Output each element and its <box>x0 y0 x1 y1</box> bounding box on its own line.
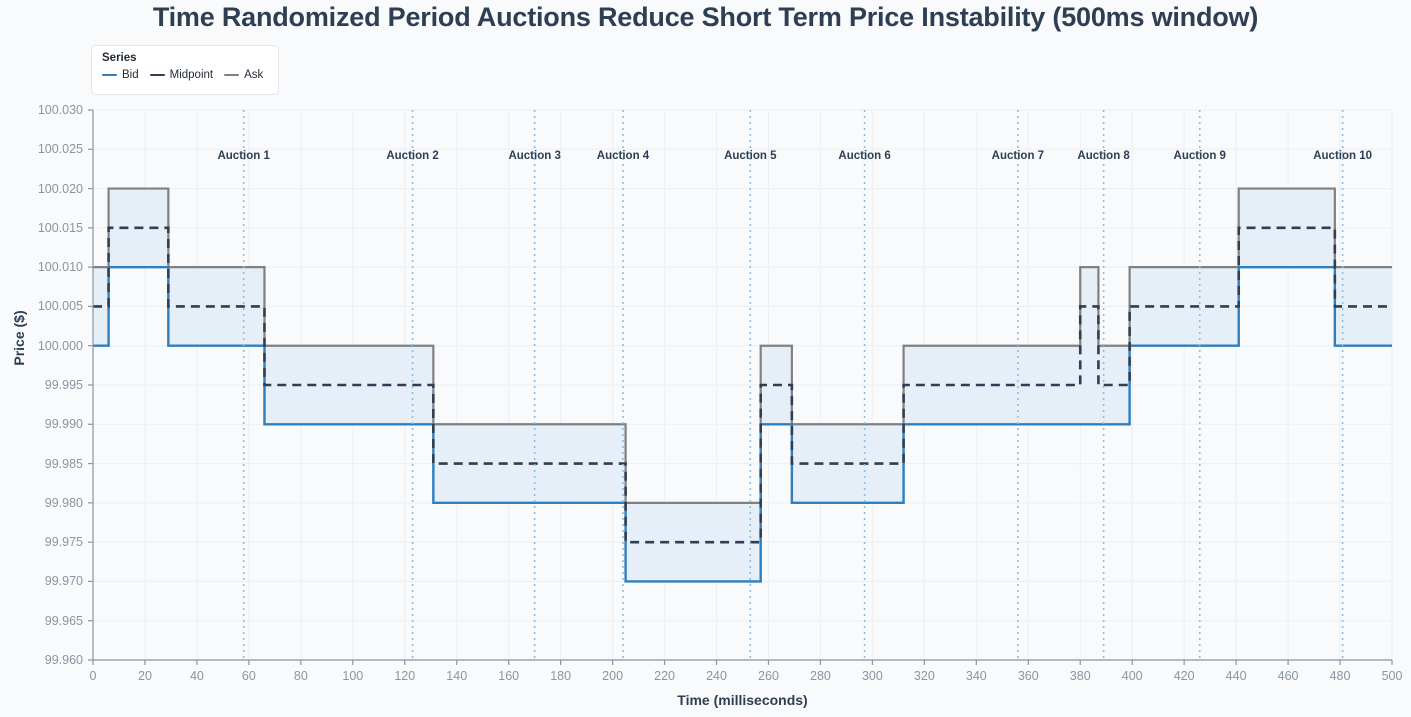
chart-root: Time Randomized Period Auctions Reduce S… <box>0 0 1411 717</box>
y-axis-tick-label: 99.970 <box>0 574 83 588</box>
x-axis-tick-label: 360 <box>1018 669 1039 683</box>
y-axis-tick-label: 99.960 <box>0 653 83 667</box>
x-axis-tick-label: 20 <box>138 669 152 683</box>
auction-label-9: Auction 9 <box>1174 150 1226 162</box>
x-axis-tick-label: 340 <box>966 669 987 683</box>
x-axis-tick-label: 460 <box>1278 669 1299 683</box>
x-axis-tick-label: 300 <box>862 669 883 683</box>
x-axis-tick-label: 320 <box>914 669 935 683</box>
y-axis-tick-label: 100.025 <box>0 142 83 156</box>
x-axis-tick-label: 120 <box>394 669 415 683</box>
x-axis-label: Time (milliseconds) <box>93 692 1392 708</box>
auction-label-3: Auction 3 <box>508 150 560 162</box>
x-axis-tick-label: 40 <box>190 669 204 683</box>
x-axis-tick-label: 80 <box>294 669 308 683</box>
y-axis-tick-label: 99.990 <box>0 417 83 431</box>
y-axis-label: Price ($) <box>11 293 27 383</box>
x-axis-tick-label: 0 <box>90 669 97 683</box>
auction-label-2: Auction 2 <box>386 150 438 162</box>
x-axis-tick-label: 60 <box>242 669 256 683</box>
x-axis-tick-label: 140 <box>446 669 467 683</box>
x-axis-tick-label: 220 <box>654 669 675 683</box>
y-axis-tick-label: 100.030 <box>0 103 83 117</box>
auction-label-8: Auction 8 <box>1077 150 1129 162</box>
x-axis-tick-label: 180 <box>550 669 571 683</box>
auction-label-10: Auction 10 <box>1313 150 1372 162</box>
x-axis-tick-label: 400 <box>1122 669 1143 683</box>
y-axis-tick-label: 99.975 <box>0 535 83 549</box>
y-axis-tick-label: 100.015 <box>0 221 83 235</box>
x-axis-tick-label: 100 <box>342 669 363 683</box>
x-axis-tick-label: 500 <box>1382 669 1403 683</box>
x-axis-tick-label: 240 <box>706 669 727 683</box>
plot-area <box>0 0 1411 717</box>
auction-label-6: Auction 6 <box>838 150 890 162</box>
x-axis-tick-label: 280 <box>810 669 831 683</box>
auction-label-7: Auction 7 <box>992 150 1044 162</box>
auction-label-1: Auction 1 <box>217 150 269 162</box>
auction-label-4: Auction 4 <box>597 150 649 162</box>
y-axis-tick-label: 100.020 <box>0 182 83 196</box>
y-axis-tick-label: 99.965 <box>0 614 83 628</box>
y-axis-tick-label: 99.985 <box>0 457 83 471</box>
x-axis-tick-label: 420 <box>1174 669 1195 683</box>
y-axis-tick-label: 100.010 <box>0 260 83 274</box>
x-axis-tick-label: 380 <box>1070 669 1091 683</box>
x-axis-tick-label: 200 <box>602 669 623 683</box>
x-axis-tick-label: 260 <box>758 669 779 683</box>
x-axis-tick-label: 480 <box>1330 669 1351 683</box>
x-axis-tick-label: 440 <box>1226 669 1247 683</box>
auction-label-5: Auction 5 <box>724 150 776 162</box>
x-axis-tick-label: 160 <box>498 669 519 683</box>
y-axis-tick-label: 99.980 <box>0 496 83 510</box>
